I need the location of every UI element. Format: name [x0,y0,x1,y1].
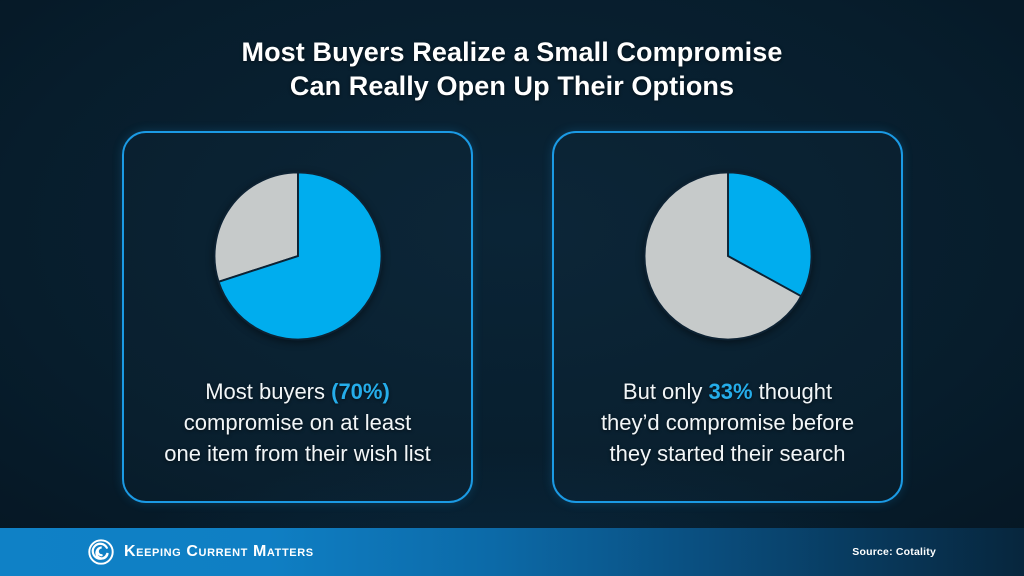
caption-line-2: compromise on at least [134,407,461,438]
caption-line-3: one item from their wish list [134,438,461,469]
caption-line-3: they started their search [564,438,891,469]
stat-card-right: But only 33% thought they’d compromise b… [552,131,903,503]
footer-bar: Keeping Current Matters Source: Cotality [0,528,1024,576]
stat-caption-left: Most buyers (70%) compromise on at least… [134,376,461,469]
stat-caption-right: But only 33% thought they’d compromise b… [564,376,891,469]
brand-logo: Keeping Current Matters [88,539,314,565]
caption-line-1: Most buyers (70%) [134,376,461,407]
source-label: Source: Cotality [852,546,936,558]
stat-card-left: Most buyers (70%) compromise on at least… [122,131,473,503]
infographic-slide: Most Buyers Realize a Small Compromise C… [0,0,1024,576]
pie-chart-right [641,169,815,343]
pie-chart-left [211,169,385,343]
brand-name: Keeping Current Matters [124,543,314,561]
pie-chart-right-svg [641,169,815,343]
spiral-circle-logo-icon [88,539,114,565]
caption-highlight-percent: 33% [709,379,753,404]
caption-line-2: they’d compromise before [564,407,891,438]
pie-chart-left-svg [211,169,385,343]
title-line-1: Most Buyers Realize a Small Compromise [0,35,1024,69]
caption-line-1: But only 33% thought [564,376,891,407]
title-line-2: Can Really Open Up Their Options [0,69,1024,103]
caption-text-pre: But only [623,379,709,404]
caption-text-post: thought [753,379,833,404]
caption-highlight-percent: (70%) [331,379,390,404]
page-title: Most Buyers Realize a Small Compromise C… [0,35,1024,103]
caption-text-pre: Most buyers [205,379,331,404]
